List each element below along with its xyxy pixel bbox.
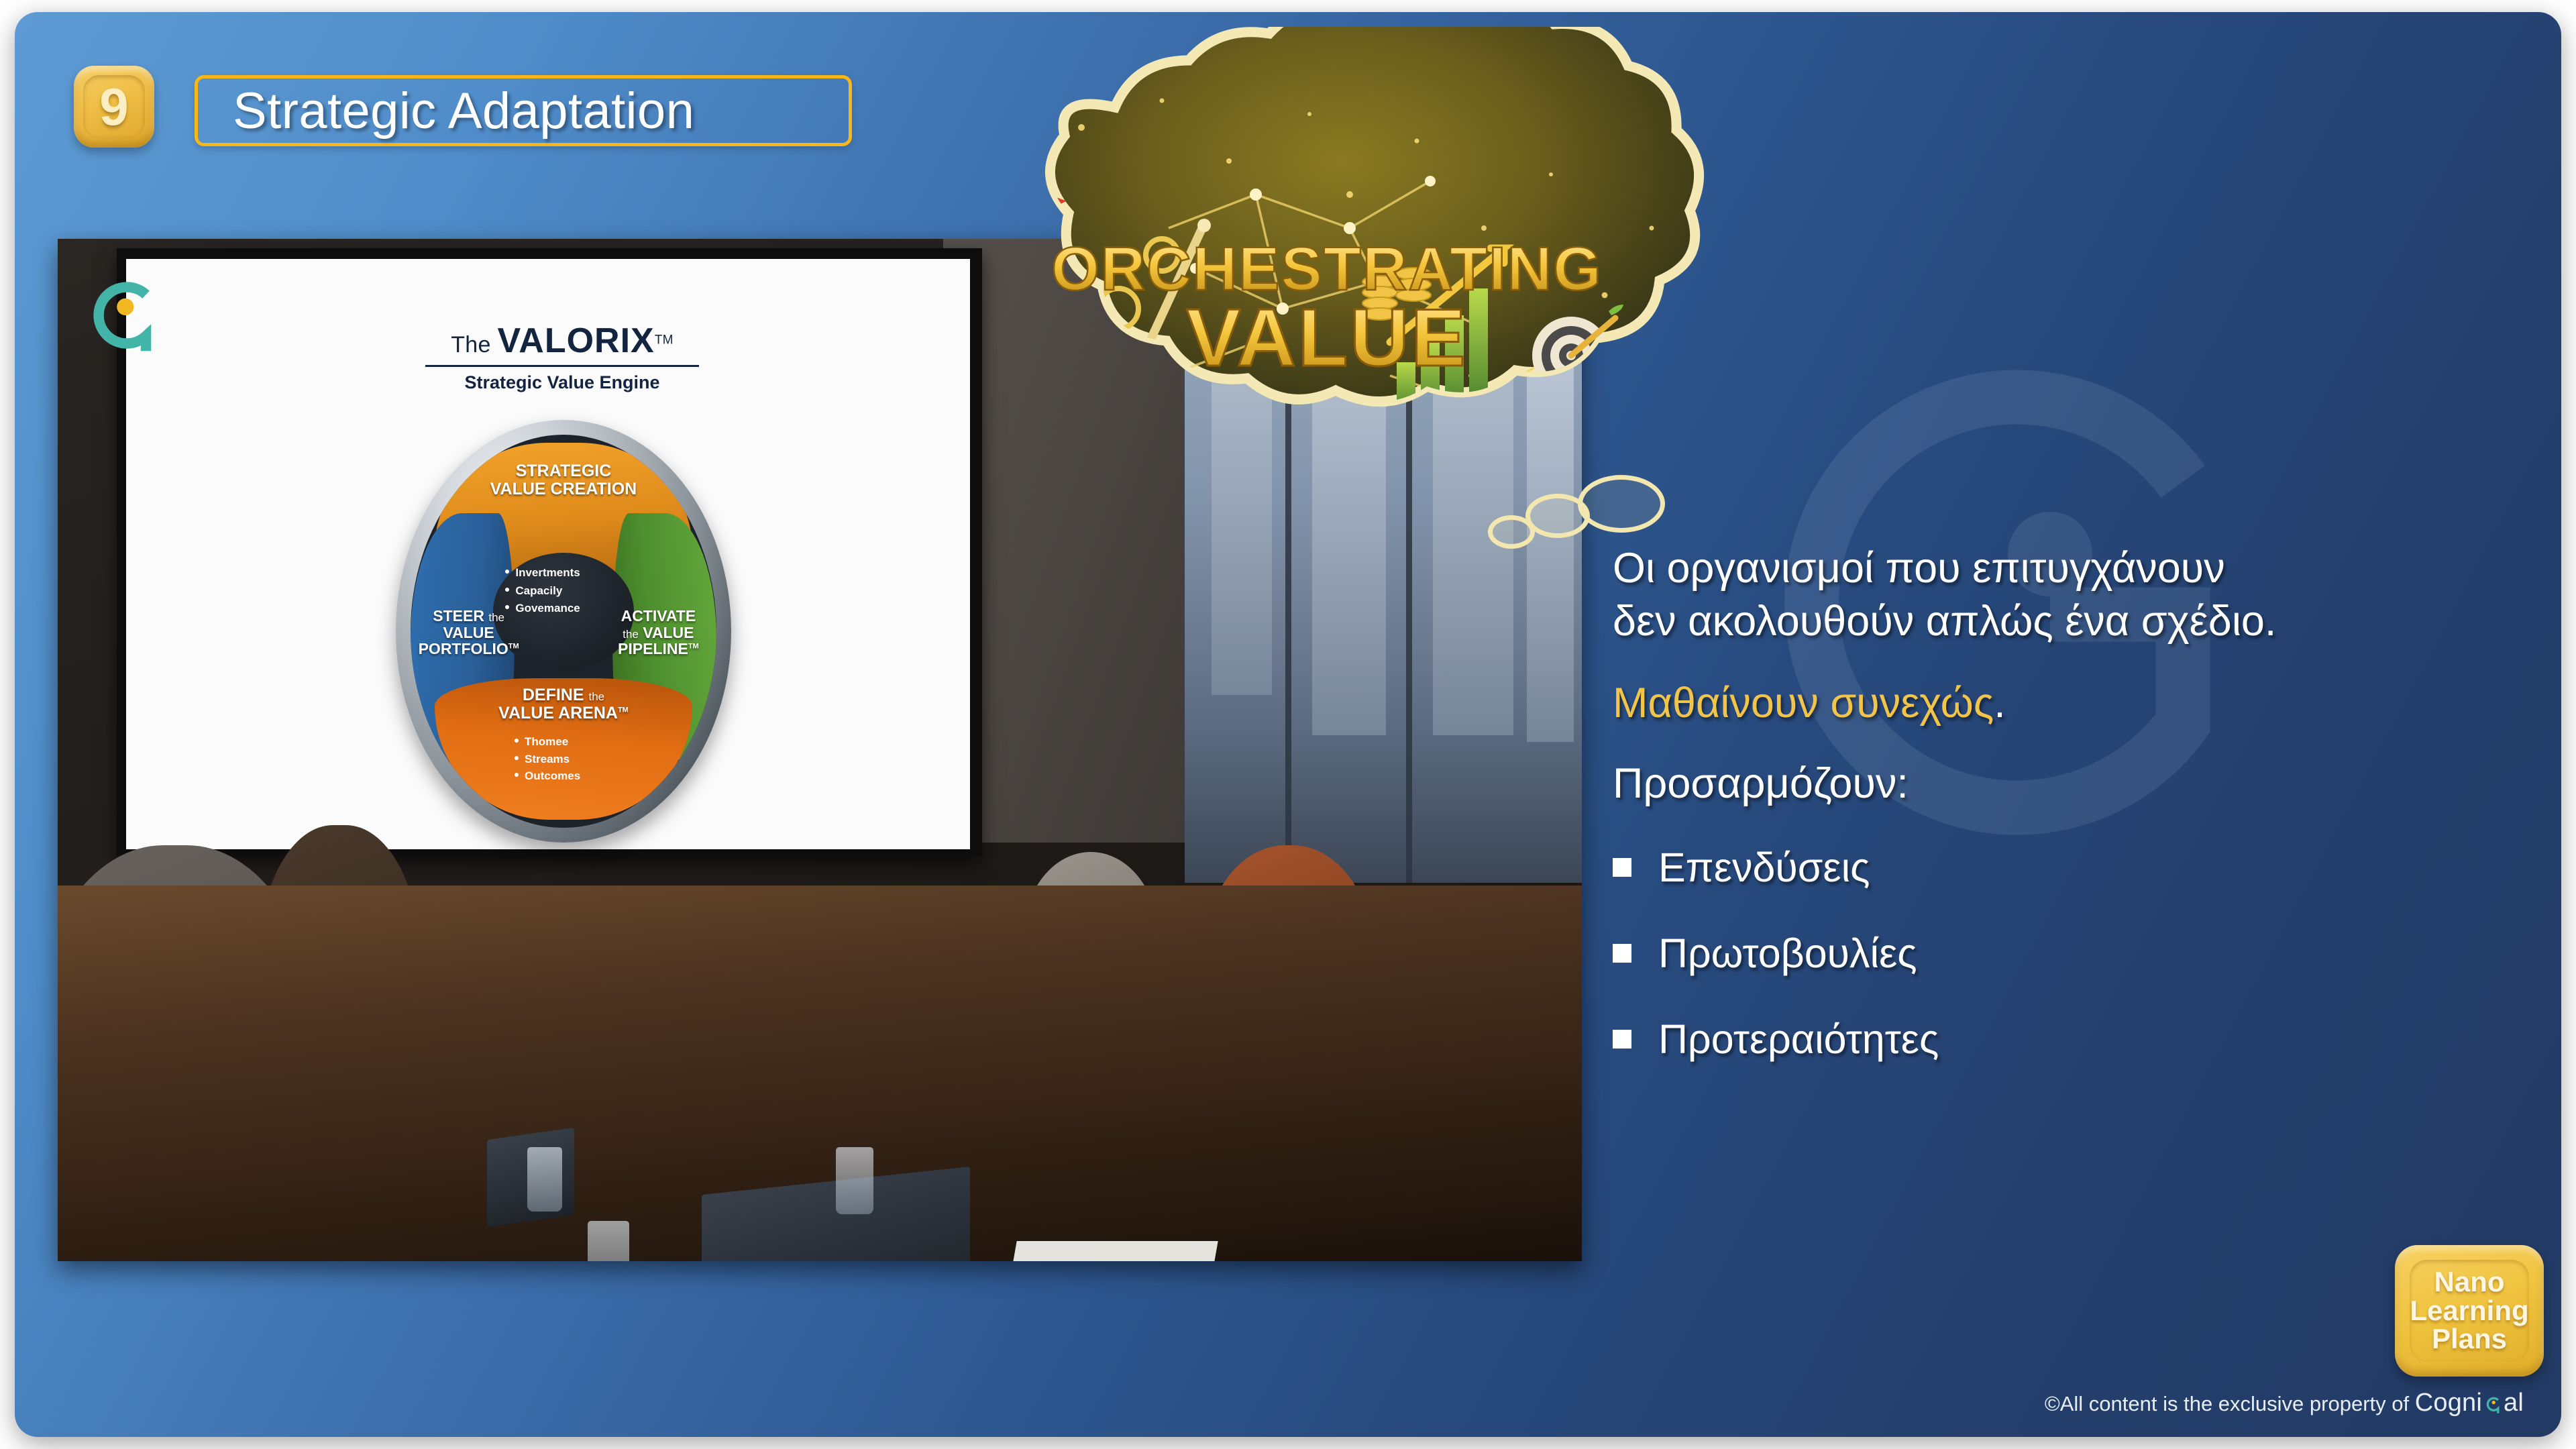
thought-trail-medium bbox=[1525, 494, 1590, 538]
bullet-label: Πρωτοβουλίες bbox=[1658, 930, 1917, 977]
thought-trail-small bbox=[1488, 515, 1535, 549]
page-title: Strategic Adaptation bbox=[233, 82, 694, 140]
water-glass bbox=[527, 1147, 562, 1212]
cogni-g-logo-icon bbox=[76, 268, 170, 362]
valorix-rule bbox=[425, 365, 699, 367]
intro-line-1: Οι οργανισμοί που επιτυγχάνουν bbox=[1613, 545, 2225, 592]
brand-left: Cogni bbox=[2415, 1389, 2482, 1417]
cogni-g-mark-icon bbox=[2483, 1394, 2503, 1414]
intro-paragraph: Οι οργανισμοί που επιτυγχάνουν δεν ακολο… bbox=[1613, 542, 2478, 649]
list-item: Προτεραιότητες bbox=[1613, 1016, 2478, 1063]
slide-number-badge: 9 bbox=[74, 66, 154, 148]
list-item: Πρωτοβουλίες bbox=[1613, 930, 2478, 977]
brand-right: al bbox=[2504, 1389, 2524, 1417]
paper-document bbox=[1004, 1241, 1218, 1261]
body-text-column: Οι οργανισμοί που επιτυγχάνουν δεν ακολο… bbox=[1613, 542, 2478, 1102]
slide-canvas: 9 Strategic Adaptation The VALORIXTM bbox=[15, 12, 2561, 1437]
copyright-notice: ©All content is the exclusive property o… bbox=[15, 1389, 2524, 1417]
lead-in-text: Προσαρμόζουν: bbox=[1613, 759, 2478, 808]
bullet-square-icon bbox=[1613, 944, 1631, 963]
copyright-text: ©All content is the exclusive property o… bbox=[2045, 1392, 2415, 1415]
nlp-line2: Learning bbox=[2410, 1295, 2528, 1326]
svc-line2: VALUE CREATION bbox=[490, 480, 637, 498]
water-glass bbox=[836, 1147, 873, 1214]
svc-line1: STRATEGIC bbox=[516, 462, 612, 480]
slide-number: 9 bbox=[99, 80, 128, 133]
label-strategic-value-creation: STRATEGIC VALUE CREATION bbox=[460, 462, 667, 498]
page-title-box: Strategic Adaptation bbox=[195, 75, 852, 146]
nlp-line1: Nano bbox=[2434, 1266, 2504, 1297]
highlight-period: . bbox=[1994, 680, 2006, 727]
bullet-label: Επενδύσεις bbox=[1658, 844, 1870, 891]
bullet-label: Προτεραιότητες bbox=[1658, 1016, 1939, 1063]
bullet-square-icon bbox=[1613, 858, 1631, 877]
valorix-tagline: Strategic Value Engine bbox=[388, 372, 737, 393]
list-item: Επενδύσεις bbox=[1613, 844, 2478, 891]
highlight-paragraph: Μαθαίνουν συνεχώς. bbox=[1613, 677, 2478, 730]
valorix-logo-block: The VALORIXTM Strategic Value Engine bbox=[388, 321, 737, 393]
nlp-line3: Plans bbox=[2432, 1323, 2507, 1354]
bullet-square-icon bbox=[1613, 1030, 1631, 1049]
nano-learning-plans-badge: Nano Learning Plans bbox=[2395, 1245, 2544, 1377]
cloud-headline-line2: VALUE bbox=[1186, 292, 1467, 383]
intro-line-2: δεν ακολουθούν απλώς ένα σχέδιο. bbox=[1613, 598, 2276, 645]
orchestrating-value-thought-bubble: ROI Risk Returns Mangement ORCHESTRATING… bbox=[880, 27, 1752, 483]
highlight-text: Μαθαίνουν συνεχώς bbox=[1613, 680, 1994, 727]
valorix-the: The bbox=[451, 332, 491, 358]
adaptation-bullet-list: Επενδύσεις Πρωτοβουλίες Προτεραιότητες bbox=[1613, 844, 2478, 1063]
meeting-participants bbox=[58, 557, 1582, 1261]
valorix-tm: TM bbox=[655, 333, 674, 347]
water-glass bbox=[588, 1221, 629, 1261]
thought-trail-large bbox=[1578, 475, 1665, 533]
valorix-name: VALORIX bbox=[497, 321, 654, 360]
